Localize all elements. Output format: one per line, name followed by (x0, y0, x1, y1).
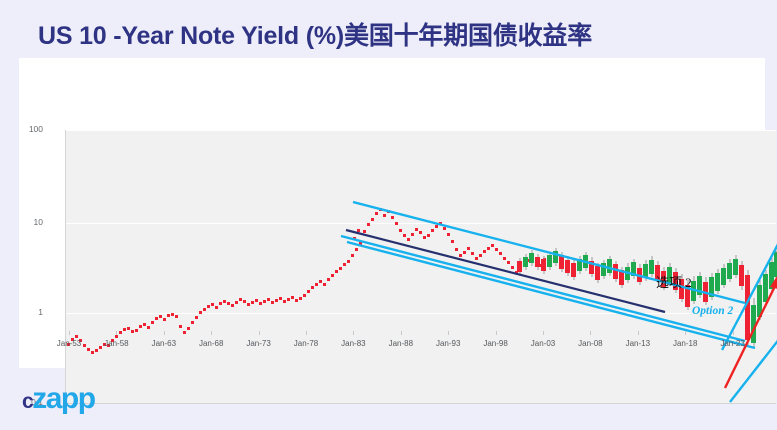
y-axis-label-10: 10 (3, 217, 43, 227)
logo-letter-c: c (22, 390, 32, 413)
x-axis-label: Jan-68 (199, 339, 223, 348)
x-axis-label: Jan-98 (483, 339, 507, 348)
y-axis-label-1: 1 (3, 307, 43, 317)
x-axis-tick (496, 331, 497, 335)
x-axis-tick (401, 331, 402, 335)
x-axis-tick (733, 331, 734, 335)
y-axis-label-100: 100 (3, 124, 43, 134)
x-axis-tick (448, 331, 449, 335)
annotation-option2-cn: 选项 2 (656, 272, 692, 291)
x-axis-label: Jan-18 (673, 339, 697, 348)
x-axis-tick (164, 331, 165, 335)
x-axis-label: Jan-53 (57, 339, 81, 348)
x-axis-tick (638, 331, 639, 335)
x-axis-label: Jan-88 (389, 339, 413, 348)
x-axis-tick (69, 331, 70, 335)
x-axis-tick (353, 331, 354, 335)
x-axis-label: Jan-93 (436, 339, 460, 348)
annotation-option2-en: Option 2 (692, 305, 733, 317)
x-axis-label: Jan-23 (720, 339, 744, 348)
x-axis-tick (211, 331, 212, 335)
x-axis-tick (116, 331, 117, 335)
x-axis-label: Jan-63 (152, 339, 176, 348)
x-axis-tick (259, 331, 260, 335)
x-axis-tick (306, 331, 307, 335)
x-axis-tick (685, 331, 686, 335)
x-axis-label: Jan-78 (294, 339, 318, 348)
x-axis-label: Jan-58 (104, 339, 128, 348)
czapp-logo[interactable]: czapp (22, 382, 95, 416)
x-axis-label: Jan-13 (626, 339, 650, 348)
page-title: US 10 -Year Note Yield (%)美国十年期国债收益率 (38, 16, 592, 52)
chart-plot-area (65, 130, 776, 403)
price-series-svg (65, 130, 776, 403)
y-axis-line (65, 130, 66, 403)
x-axis-label: Jan-83 (341, 339, 365, 348)
x-axis-line (65, 403, 776, 404)
x-axis-label: Jan-03 (531, 339, 555, 348)
descending-channel (341, 202, 755, 348)
x-axis-label: Jan-08 (578, 339, 602, 348)
chart-card: 100 10 1 0.1 Jan-53Jan-58Jan-63Jan-68Jan… (19, 58, 765, 368)
x-axis-tick (590, 331, 591, 335)
logo-text-zapp: zapp (32, 382, 94, 415)
x-axis-tick (543, 331, 544, 335)
x-axis-label: Jan-73 (246, 339, 270, 348)
candlestick-bars (517, 248, 777, 348)
